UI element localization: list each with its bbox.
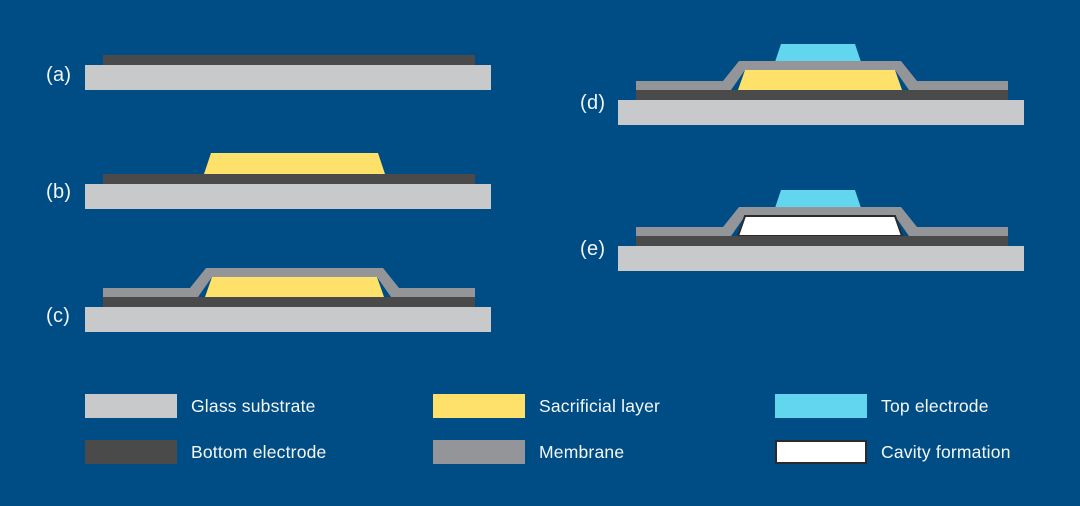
panel-label-a: (a) — [46, 64, 71, 87]
top-electrode-swatch — [775, 394, 867, 418]
sacrificial-layer-swatch — [433, 394, 525, 418]
legend-label-membrane: Membrane — [539, 442, 624, 463]
panel-e-cavity-formation — [738, 216, 902, 236]
panel-label-e: (e) — [580, 238, 605, 261]
bottom-electrode-swatch — [85, 440, 177, 464]
panel-b-glass-substrate — [85, 184, 491, 209]
panel-b-sacrificial-layer — [204, 153, 385, 174]
panel-c-bottom-electrode — [103, 297, 475, 307]
panel-a-bottom-electrode — [103, 55, 475, 65]
panel-d-bottom-electrode — [636, 90, 1008, 100]
panel-e-glass-substrate — [618, 246, 1024, 271]
panel-c-glass-substrate — [85, 307, 491, 332]
legend-item-glass-substrate: Glass substrate — [85, 393, 415, 419]
legend-item-top-electrode: Top electrode — [775, 393, 1080, 419]
panel-a-graphic — [85, 55, 491, 90]
panel-d-glass-substrate — [618, 100, 1024, 125]
panel-d-graphic — [618, 44, 1024, 125]
panel-b-bottom-electrode — [103, 174, 475, 184]
panel-b-graphic — [85, 153, 491, 209]
legend-label-glass-substrate: Glass substrate — [191, 396, 316, 417]
legend-column-3: Top electrode Cavity formation — [775, 393, 1080, 473]
legend-label-sacrificial-layer: Sacrificial layer — [539, 396, 660, 417]
panel-c-graphic — [85, 268, 491, 332]
panel-e-graphic — [618, 190, 1024, 271]
cavity-formation-swatch — [775, 440, 867, 464]
legend-item-sacrificial-layer: Sacrificial layer — [433, 393, 763, 419]
legend-item-membrane: Membrane — [433, 439, 763, 465]
legend-label-bottom-electrode: Bottom electrode — [191, 442, 327, 463]
membrane-swatch — [433, 440, 525, 464]
panel-e-top-electrode — [775, 190, 861, 208]
legend-label-cavity-formation: Cavity formation — [881, 442, 1011, 463]
legend-item-cavity-formation: Cavity formation — [775, 439, 1080, 465]
legend-item-bottom-electrode: Bottom electrode — [85, 439, 415, 465]
legend-column-2: Sacrificial layer Membrane — [433, 393, 763, 473]
panel-a-glass-substrate — [85, 65, 491, 90]
legend: Glass substrate Bottom electrode Sacrifi… — [85, 393, 1045, 473]
panel-label-b: (b) — [46, 181, 71, 204]
process-flow-figure: (a) (b) (c) (d) (e) Glass substrate Bott… — [0, 0, 1080, 506]
legend-column-1: Glass substrate Bottom electrode — [85, 393, 415, 473]
panel-c-sacrificial-layer — [205, 277, 384, 297]
panel-e-bottom-electrode — [636, 236, 1008, 246]
panel-d-sacrificial-layer — [738, 70, 902, 90]
legend-label-top-electrode: Top electrode — [881, 396, 989, 417]
panel-label-d: (d) — [580, 92, 605, 115]
panel-label-c: (c) — [46, 305, 70, 328]
panel-d-top-electrode — [775, 44, 861, 62]
glass-substrate-swatch — [85, 394, 177, 418]
